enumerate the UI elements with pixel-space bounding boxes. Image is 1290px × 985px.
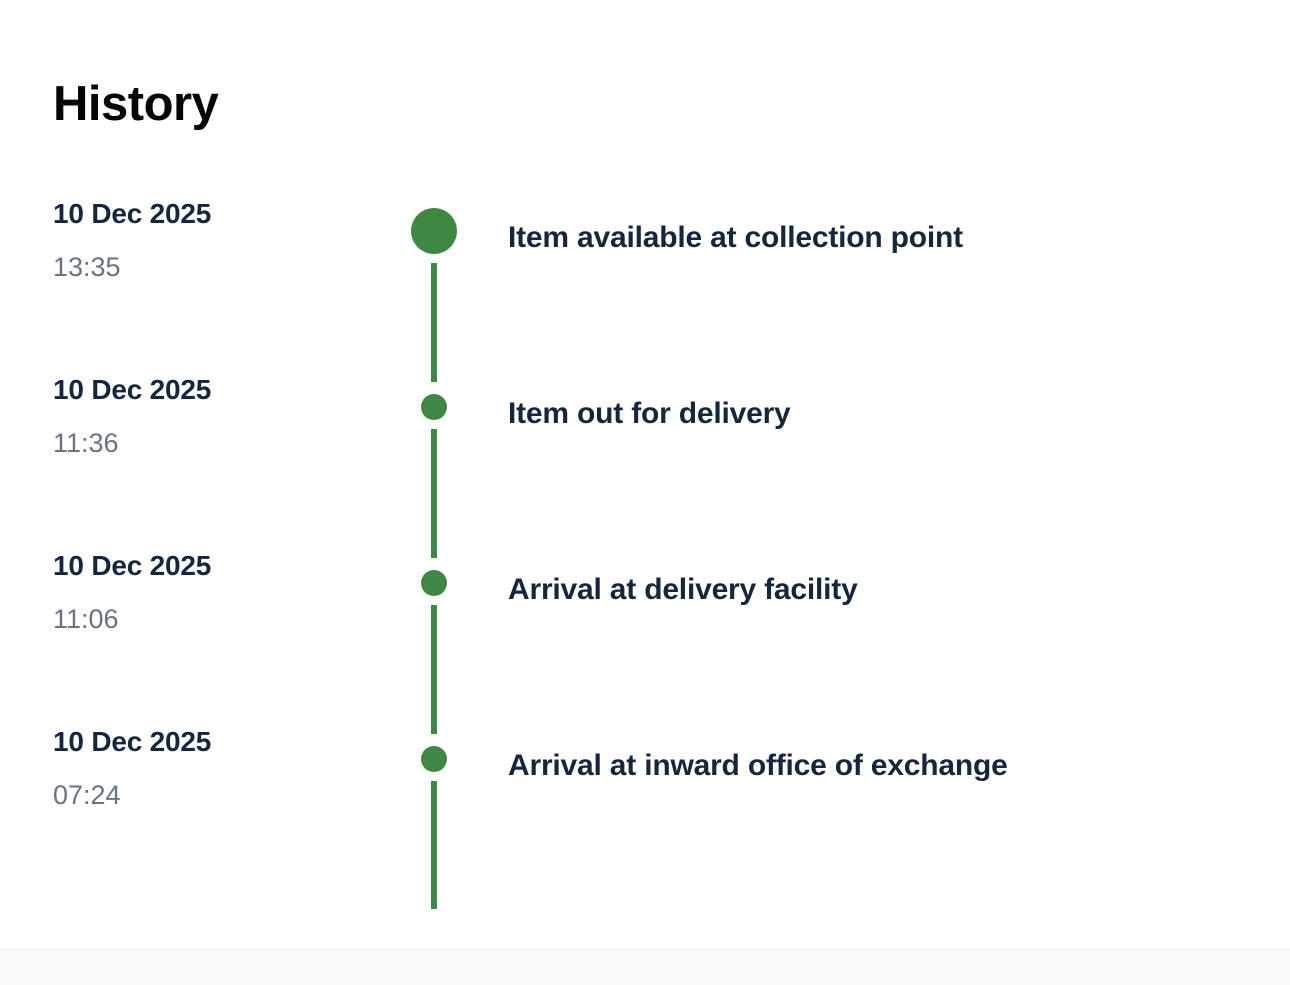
- event-date: 10 Dec 2025: [53, 372, 360, 407]
- footer-band: [0, 948, 1290, 985]
- event-time: 07:24: [53, 779, 360, 811]
- past-status-dot-icon: [421, 570, 447, 596]
- event-status-text: Arrival at inward office of exchange: [508, 724, 1038, 786]
- history-page: History 10 Dec 2025 13:35 Item available…: [0, 0, 1290, 948]
- event-date: 10 Dec 2025: [53, 724, 360, 759]
- event-status-column: Arrival at inward office of exchange: [508, 724, 1290, 786]
- event-time: 11:06: [53, 603, 360, 635]
- timeline-marker-column: [360, 372, 508, 548]
- timeline-connector-line: [431, 429, 437, 558]
- tracking-history-timeline: 10 Dec 2025 13:35 Item available at coll…: [0, 196, 1290, 914]
- event-status-column: Arrival at delivery facility: [508, 548, 1290, 610]
- event-time: 11:36: [53, 427, 360, 459]
- event-datetime: 10 Dec 2025 07:24: [0, 724, 360, 811]
- timeline-marker-column: [360, 724, 508, 914]
- timeline-connector-line: [431, 263, 437, 382]
- timeline-event-row: 10 Dec 2025 11:36 Item out for delivery: [0, 372, 1290, 548]
- event-date: 10 Dec 2025: [53, 196, 360, 231]
- page-title: History: [53, 78, 218, 132]
- event-datetime: 10 Dec 2025 13:35: [0, 196, 360, 283]
- current-status-dot-icon: [411, 208, 457, 254]
- timeline-connector-line: [431, 605, 437, 734]
- event-status-column: Item available at collection point: [508, 196, 1290, 258]
- timeline-connector-tail: [431, 781, 437, 909]
- event-time: 13:35: [53, 251, 360, 283]
- event-status-column: Item out for delivery: [508, 372, 1290, 434]
- event-status-text: Item out for delivery: [508, 372, 1038, 434]
- timeline-event-row: 10 Dec 2025 11:06 Arrival at delivery fa…: [0, 548, 1290, 724]
- event-date: 10 Dec 2025: [53, 548, 360, 583]
- event-status-text: Item available at collection point: [508, 196, 1038, 258]
- timeline-event-row: 10 Dec 2025 13:35 Item available at coll…: [0, 196, 1290, 372]
- past-status-dot-icon: [421, 746, 447, 772]
- timeline-event-row: 10 Dec 2025 07:24 Arrival at inward offi…: [0, 724, 1290, 914]
- timeline-marker-column: [360, 196, 508, 372]
- past-status-dot-icon: [421, 394, 447, 420]
- event-datetime: 10 Dec 2025 11:36: [0, 372, 360, 459]
- timeline-marker-column: [360, 548, 508, 724]
- event-status-text: Arrival at delivery facility: [508, 548, 1038, 610]
- event-datetime: 10 Dec 2025 11:06: [0, 548, 360, 635]
